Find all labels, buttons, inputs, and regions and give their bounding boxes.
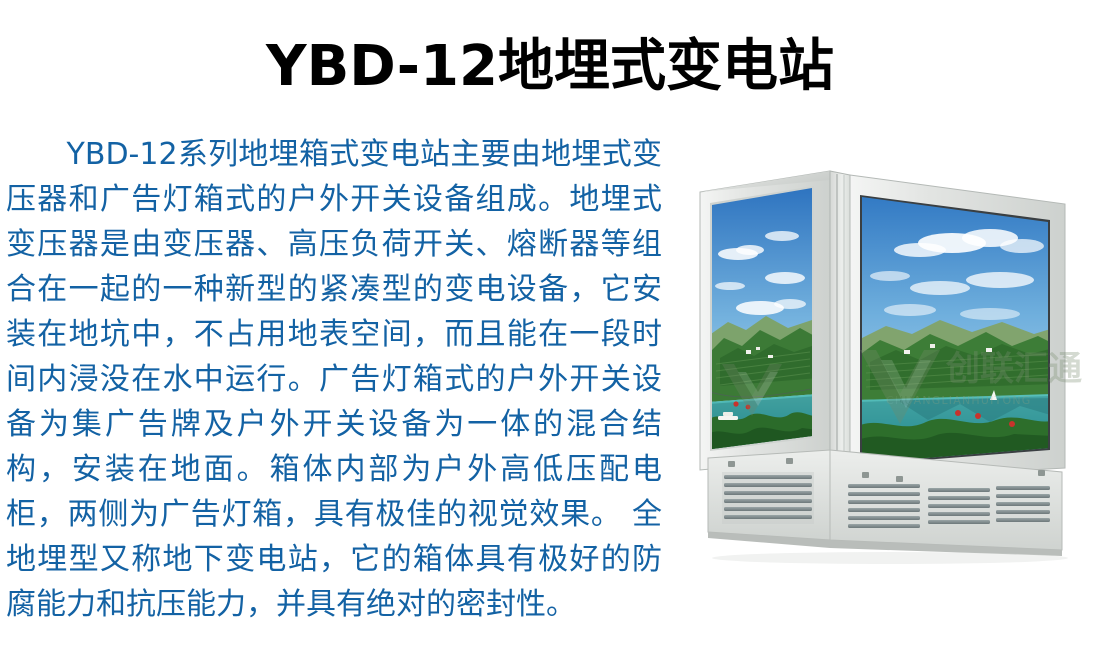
watermark-text-en: CHUANGLIANHUITONG [886,394,1032,407]
right-lightbox-panel [858,188,1054,470]
product-info-page: YBD-12地埋式变电站 YBD-12系列地埋箱式变电站主要由地埋式变压器和广告… [0,0,1100,651]
cabinet-corner-post [830,171,850,476]
page-title: YBD-12地埋式变电站 [0,36,1100,98]
product-description: YBD-12系列地埋箱式变电站主要由地埋式变压器和广告灯箱式的户外开关设备组成。… [6,132,662,627]
watermark-text-cn: 创联汇通 [945,349,1082,389]
ground-shadow [712,552,1068,564]
left-lightbox-panel [708,184,818,456]
right-cabinet-face: 创联汇通 CHUANGLIANHUITONG [850,175,1082,480]
louver-group-left [722,472,814,524]
left-cabinet-face [700,171,830,470]
product-illustration: 创联汇通 CHUANGLIANHUITONG [690,158,1090,568]
product-photo: 创联汇通 CHUANGLIANHUITONG [690,158,1090,568]
